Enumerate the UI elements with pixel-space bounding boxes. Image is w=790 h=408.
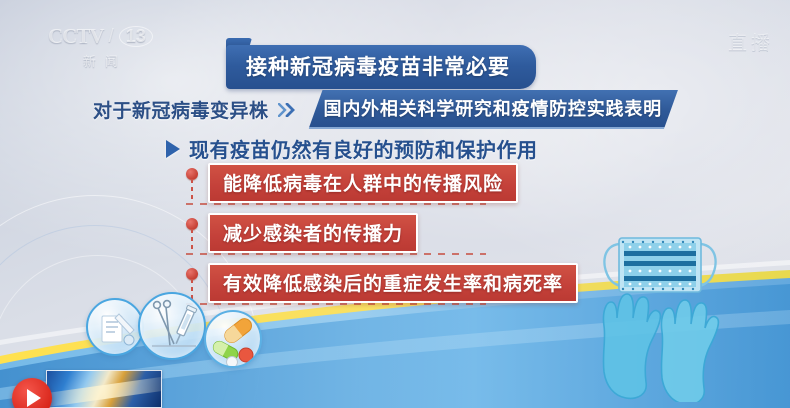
- cctv-channel-logo: CCTV / 13 新闻: [48, 24, 153, 70]
- point-label: 能降低病毒在人群中的传播风险: [208, 163, 518, 203]
- cctv-channel-number: 13: [119, 26, 153, 47]
- broadcast-frame: CCTV / 13 新闻 直播 接种新冠病毒疫苗非常必要 对于新冠病毒变异株 国…: [0, 0, 790, 408]
- live-watermark: 直播: [728, 28, 774, 55]
- video-thumbnail[interactable]: [46, 370, 162, 408]
- subheadline-row: 对于新冠病毒变异株 国内外相关科学研究和疫情防控实践表明: [93, 90, 678, 129]
- dashed-connector: [186, 303, 486, 305]
- cctv-channel-subtitle: 新闻: [48, 51, 153, 70]
- statement-row: 现有疫苗仍然有良好的预防和保护作用: [166, 134, 538, 163]
- point-label: 减少感染者的传播力: [208, 213, 418, 253]
- headline-banner: 接种新冠病毒疫苗非常必要: [226, 38, 536, 89]
- dashed-connector: [186, 203, 486, 205]
- pin-stem: [191, 179, 193, 201]
- statement-text: 现有疫苗仍然有良好的预防和保护作用: [189, 134, 538, 163]
- pin-stem: [191, 229, 193, 251]
- double-chevron-right-icon: [278, 103, 300, 117]
- cctv-logo-text: CCTV: [48, 24, 104, 49]
- thumbnail-streak: [46, 376, 162, 408]
- headline-text: 接种新冠病毒疫苗非常必要: [226, 45, 536, 89]
- medical-document-icon: [86, 298, 144, 356]
- pills-capsules-icon: [204, 310, 262, 368]
- triangle-right-icon: [166, 140, 180, 158]
- cctv-logo-slash: /: [109, 26, 114, 48]
- subheadline-lead-text: 对于新冠病毒变异株: [93, 96, 269, 123]
- medical-gloves-illustration: [590, 282, 750, 402]
- play-triangle-icon: [27, 389, 41, 407]
- point-label: 有效降低感染后的重症发生率和病死率: [208, 263, 578, 303]
- subheadline-banner-text: 国内外相关科学研究和疫情防控实践表明: [309, 90, 678, 129]
- dashed-connector: [186, 253, 486, 255]
- syringe-scissors-icon: [138, 292, 206, 360]
